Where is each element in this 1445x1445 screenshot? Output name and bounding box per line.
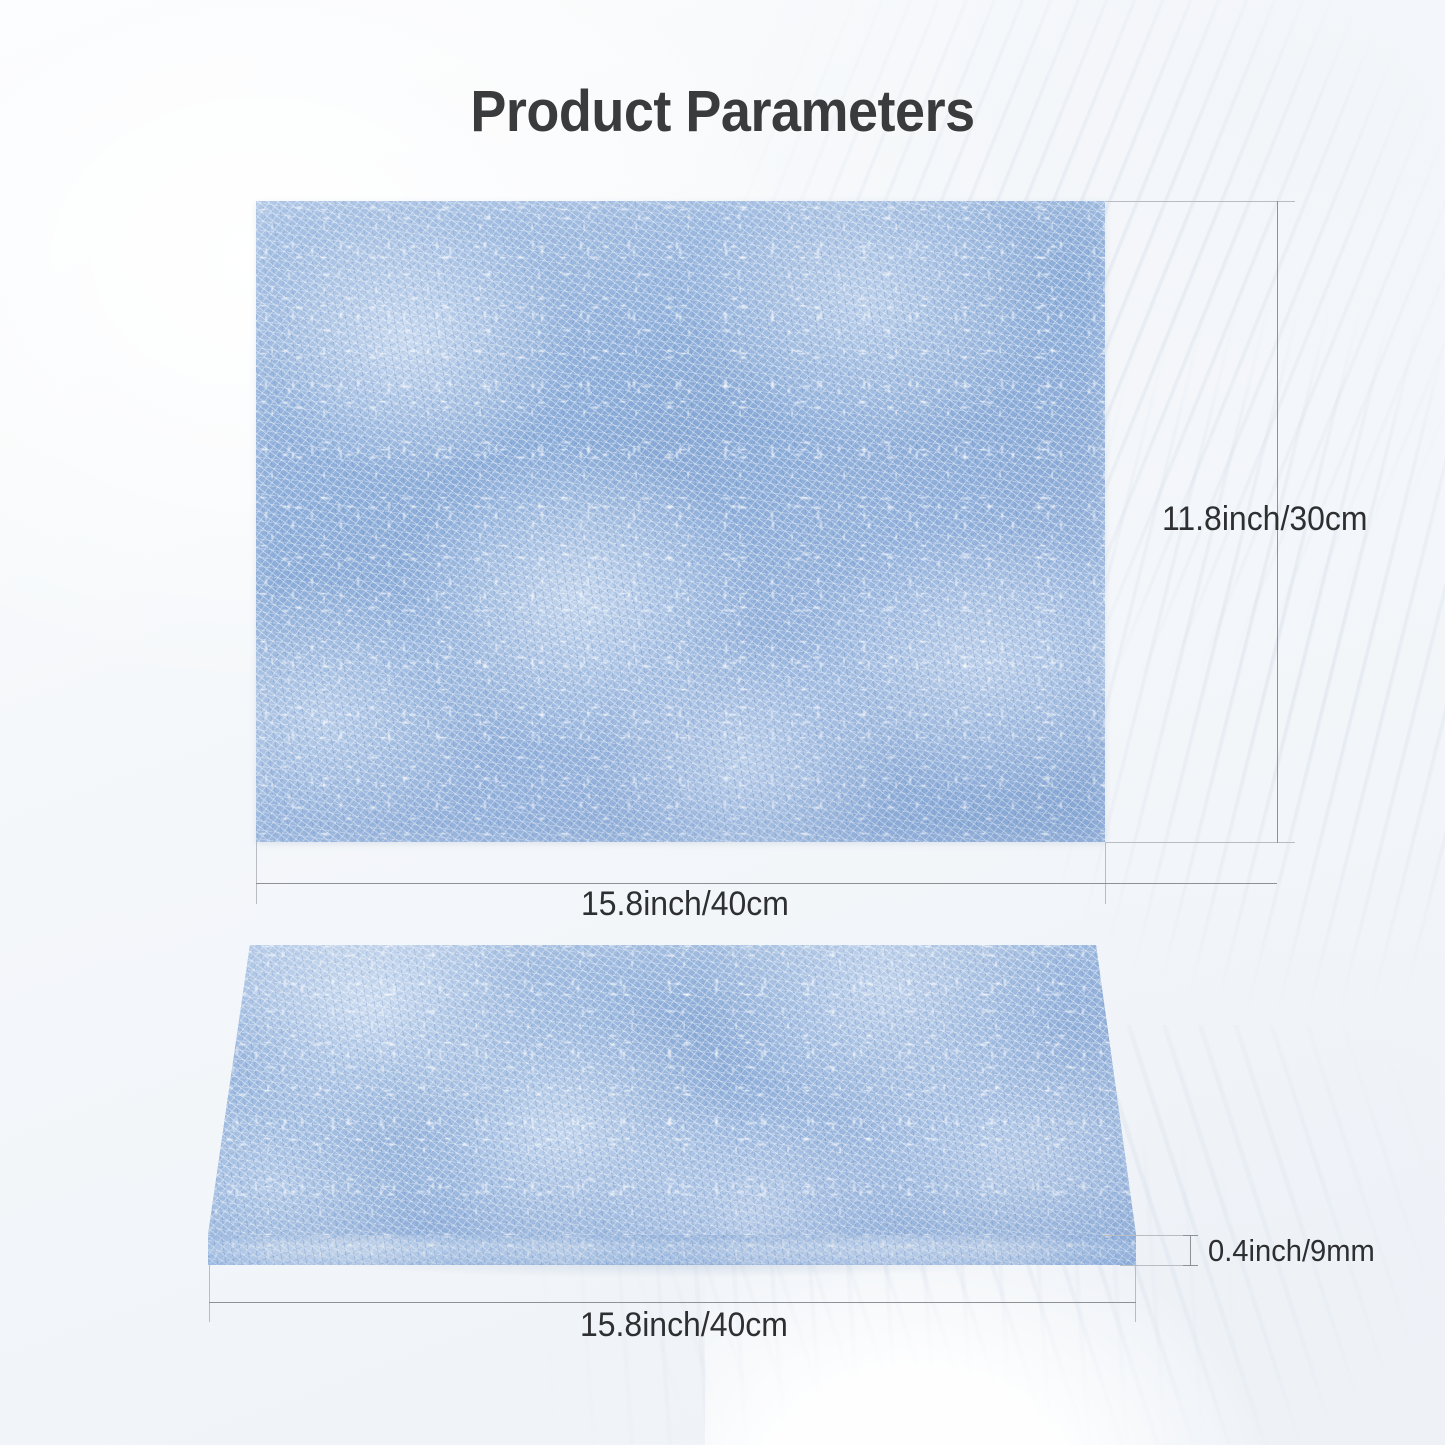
dimension-label-width-front: 15.8inch/40cm: [581, 885, 789, 924]
dimension-line-thickness: [1190, 1235, 1191, 1266]
dimension-line-width-front: [256, 883, 1277, 884]
dimension-cap-thickness-bottom: [1183, 1265, 1198, 1266]
dimension-label-width-perspective: 15.8inch/40cm: [580, 1306, 788, 1345]
extension-line-width-left: [256, 842, 257, 904]
panel-drop-shadow: [214, 1264, 1134, 1282]
acoustic-panel-perspective-view: [200, 938, 1150, 1278]
product-parameters-graphic: Product Parameters 11.8inch/30cm 15.8inc…: [0, 0, 1445, 1445]
panel-top-face: [200, 938, 1150, 1248]
dimension-label-thickness: 0.4inch/9mm: [1208, 1233, 1375, 1269]
page-title: Product Parameters: [51, 78, 1395, 145]
extension-line-height-bottom: [1105, 842, 1295, 843]
extension-line-height-top: [1105, 201, 1295, 202]
dimension-cap-thickness-top: [1183, 1235, 1198, 1236]
extension-line-width-perspective-right: [1135, 1262, 1136, 1322]
acoustic-panel-front-view: [256, 201, 1105, 842]
dimension-line-width-perspective: [209, 1302, 1136, 1303]
extension-line-width-right: [1105, 842, 1106, 904]
extension-line-width-perspective-left: [209, 1262, 210, 1322]
dimension-label-height: 11.8inch/30cm: [1162, 500, 1367, 539]
